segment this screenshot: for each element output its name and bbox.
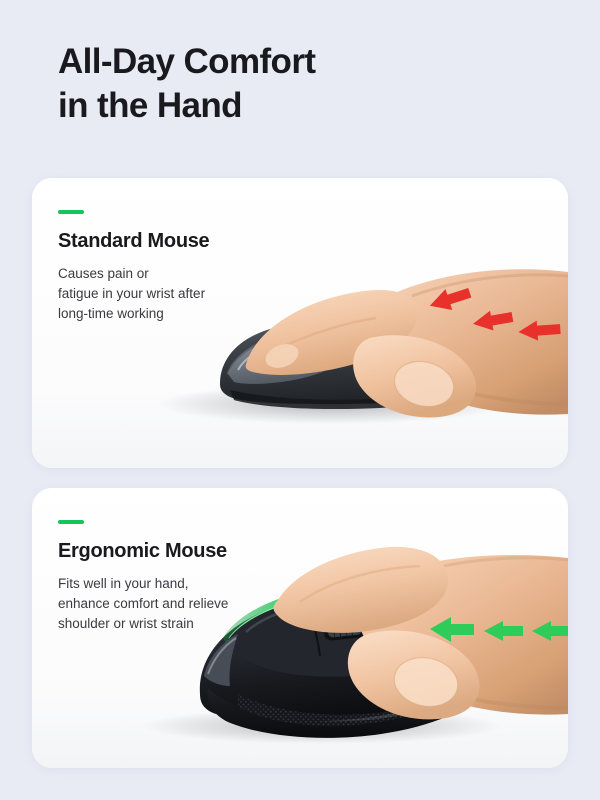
accent-dash-icon (58, 210, 84, 214)
ergonomic-card-description: Fits well in your hand, enhance comfort … (58, 574, 288, 634)
standard-card-description: Causes pain or fatigue in your wrist aft… (58, 264, 288, 324)
standard-card-title: Standard Mouse (58, 230, 288, 253)
card-ergonomic-mouse: Ergonomic Mouse Fits well in your hand, … (32, 488, 568, 768)
promo-page: All-Day Comfort in the Hand (0, 0, 600, 800)
page-title: All-Day Comfort in the Hand (58, 40, 528, 128)
ergonomic-card-title: Ergonomic Mouse (58, 540, 288, 563)
card-standard-mouse: Standard Mouse Causes pain or fatigue in… (32, 178, 568, 468)
standard-card-text: Standard Mouse Causes pain or fatigue in… (58, 210, 288, 324)
ergonomic-card-text: Ergonomic Mouse Fits well in your hand, … (58, 520, 288, 634)
accent-dash-icon (58, 520, 84, 524)
